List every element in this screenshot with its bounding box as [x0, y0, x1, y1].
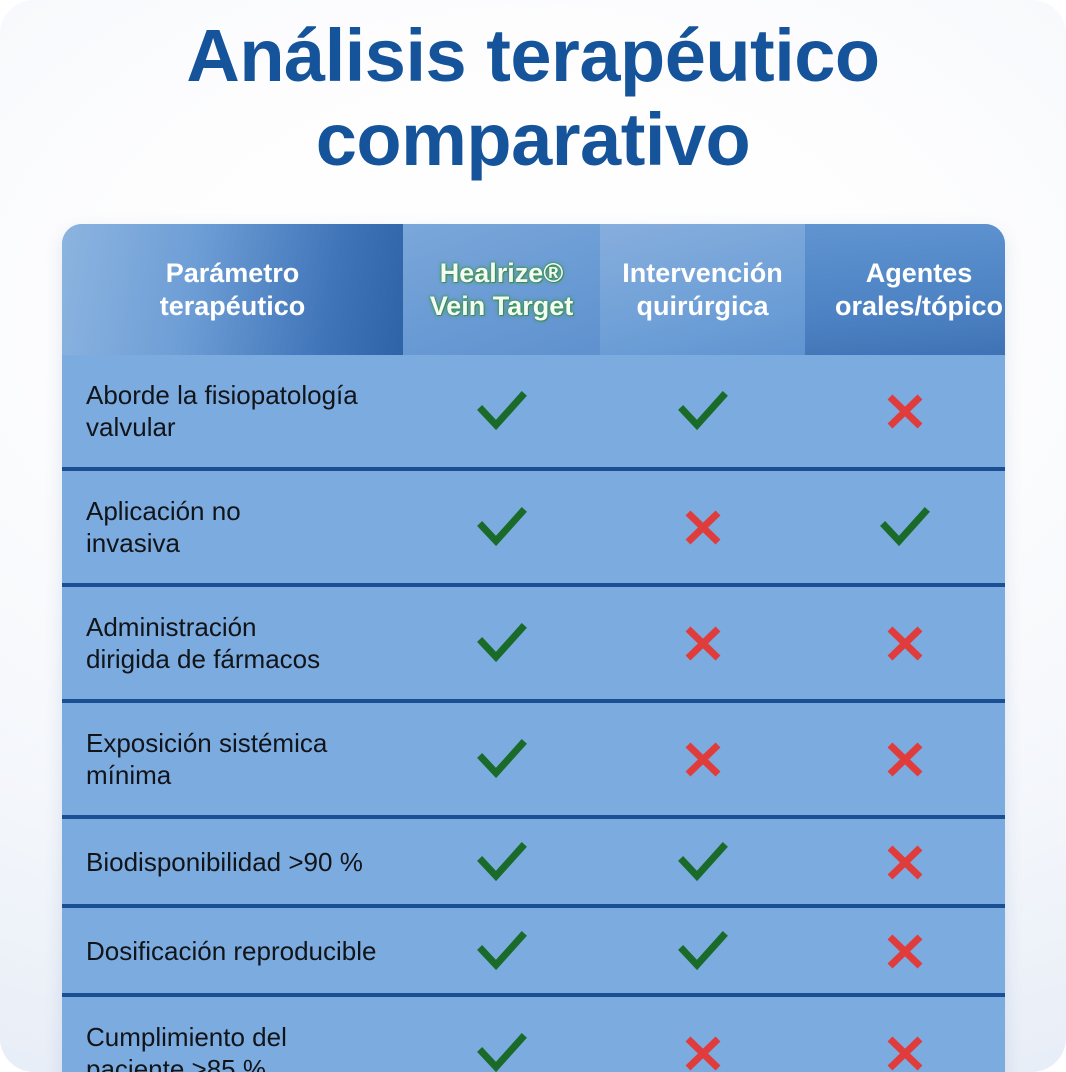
row-label: Administracióndirigida de fármacos — [62, 587, 403, 699]
check-icon — [600, 819, 805, 904]
row-label-line-2: paciente >85 % — [86, 1054, 266, 1072]
column-header-parameter-line-2: terapéutico — [160, 291, 306, 321]
check-icon — [403, 355, 600, 467]
row-label: Exposición sistémicamínima — [62, 703, 403, 815]
row-label-line-1: Biodisponibilidad >90 % — [86, 847, 363, 877]
table-row: Administracióndirigida de fármacos — [62, 583, 1005, 699]
table-row: Aborde la fisiopatologíavalvular — [62, 355, 1005, 467]
check-icon — [403, 997, 600, 1072]
row-label-line-1: Cumplimiento del — [86, 1022, 287, 1052]
column-header-oral-topical: Agentes orales/tópico — [805, 224, 1005, 355]
check-icon — [403, 819, 600, 904]
cross-icon — [805, 587, 1005, 699]
column-header-healrize: Healrize® Vein Target — [403, 224, 600, 355]
check-icon — [403, 587, 600, 699]
page-title-line-2: comparativo — [0, 98, 1066, 182]
row-label-line-1: Exposición sistémica — [86, 728, 327, 758]
column-header-oral-topical-line-1: Agentes — [866, 258, 973, 288]
table-row: Exposición sistémicamínima — [62, 699, 1005, 815]
row-label-line-2: mínima — [86, 760, 171, 790]
column-header-surgery-line-1: Intervención — [622, 258, 783, 288]
column-header-healrize-line-1: Healrize® — [440, 258, 563, 288]
cross-icon — [805, 908, 1005, 993]
table-body: Aborde la fisiopatologíavalvularAplicaci… — [62, 355, 1005, 1072]
row-label-line-1: Dosificación reproducible — [86, 936, 376, 966]
row-label-line-2: valvular — [86, 412, 176, 442]
cross-icon — [805, 819, 1005, 904]
check-icon — [805, 471, 1005, 583]
cross-icon — [805, 355, 1005, 467]
table-row: Dosificación reproducible — [62, 904, 1005, 993]
check-icon — [403, 471, 600, 583]
row-label-line-1: Aborde la fisiopatología — [86, 380, 358, 410]
column-header-surgery-line-2: quirúrgica — [636, 291, 768, 321]
cross-icon — [600, 471, 805, 583]
page-title-line-1: Análisis terapéutico — [0, 14, 1066, 98]
column-header-parameter: Parámetro terapéutico — [62, 224, 403, 355]
row-label: Aplicación noinvasiva — [62, 471, 403, 583]
column-header-oral-topical-line-2: orales/tópico — [835, 291, 1003, 321]
table-row: Aplicación noinvasiva — [62, 467, 1005, 583]
row-label-line-2: dirigida de fármacos — [86, 644, 320, 674]
row-label: Cumplimiento delpaciente >85 % — [62, 997, 403, 1072]
column-header-surgery: Intervención quirúrgica — [600, 224, 805, 355]
table-header-row: Parámetro terapéutico Healrize® Vein Tar… — [62, 224, 1005, 355]
row-label: Dosificación reproducible — [62, 908, 403, 993]
page-title: Análisis terapéutico comparativo — [0, 14, 1066, 182]
cross-icon — [600, 587, 805, 699]
row-label-line-2: invasiva — [86, 528, 180, 558]
cross-icon — [600, 703, 805, 815]
check-icon — [403, 703, 600, 815]
row-label: Aborde la fisiopatologíavalvular — [62, 355, 403, 467]
check-icon — [403, 908, 600, 993]
table-row: Biodisponibilidad >90 % — [62, 815, 1005, 904]
cross-icon — [600, 997, 805, 1072]
cross-icon — [805, 997, 1005, 1072]
comparison-table: Parámetro terapéutico Healrize® Vein Tar… — [62, 224, 1005, 1072]
column-header-parameter-line-1: Parámetro — [166, 258, 300, 288]
check-icon — [600, 355, 805, 467]
table-row: Cumplimiento delpaciente >85 % — [62, 993, 1005, 1072]
row-label-line-1: Administración — [86, 612, 257, 642]
comparison-infographic: Análisis terapéutico comparativo Parámet… — [0, 0, 1066, 1072]
column-header-healrize-line-2: Vein Target — [430, 291, 574, 321]
cross-icon — [805, 703, 1005, 815]
row-label: Biodisponibilidad >90 % — [62, 819, 403, 904]
check-icon — [600, 908, 805, 993]
row-label-line-1: Aplicación no — [86, 496, 241, 526]
